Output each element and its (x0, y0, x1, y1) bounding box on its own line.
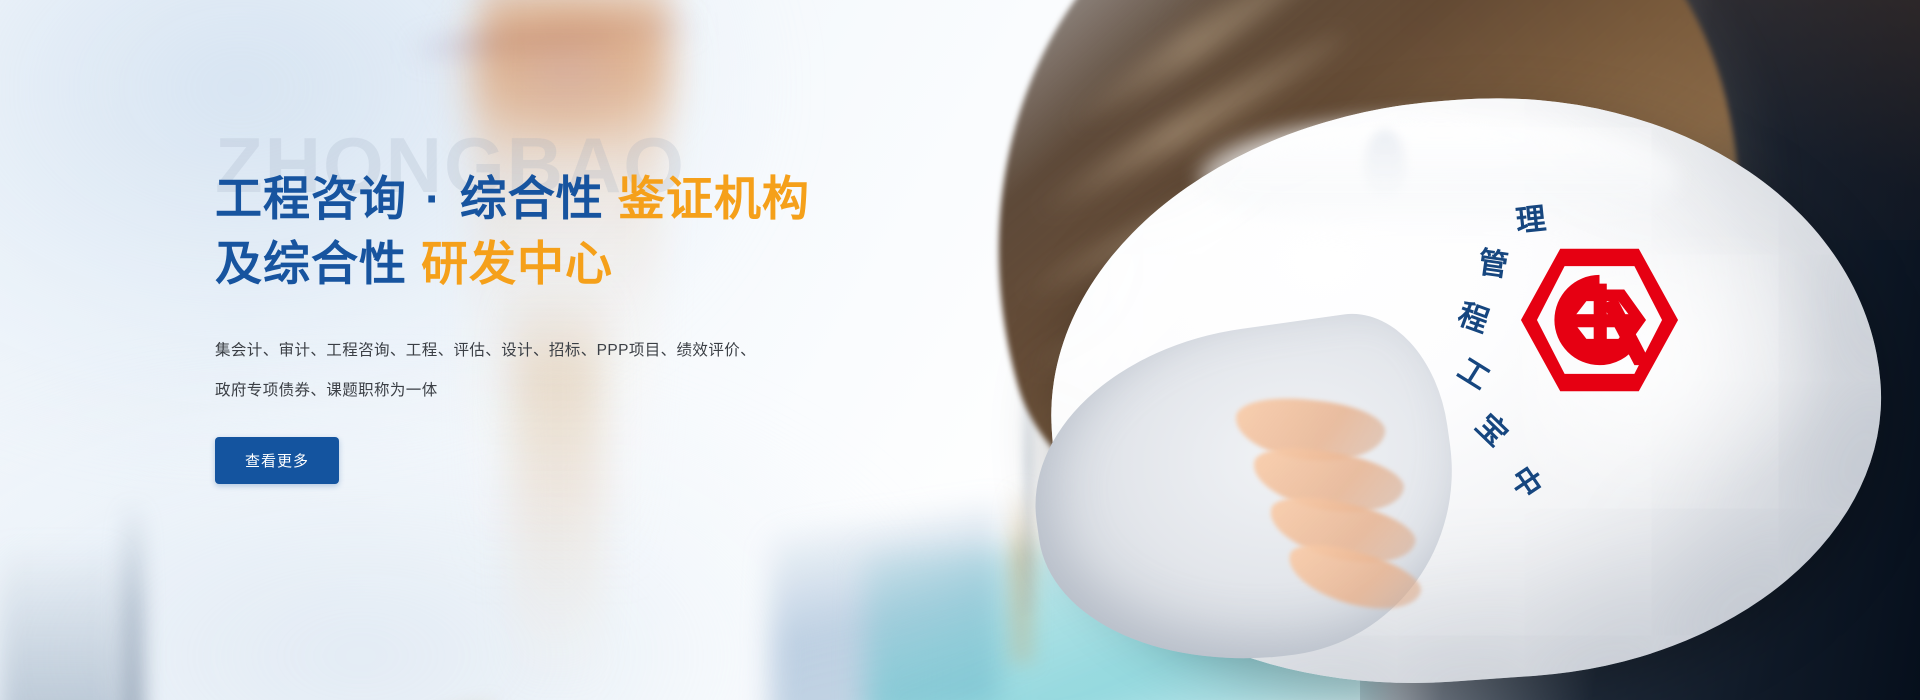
headline-line-2: 及综合性 研发中心 (215, 232, 875, 297)
hard-hat-ridge (1365, 130, 1405, 200)
view-more-button[interactable]: 查看更多 (215, 437, 339, 484)
scaffold-pole (120, 500, 146, 700)
page-description: 集会计、审计、工程咨询、工程、评估、设计、招标、PPP项目、绩效评价、 政府专项… (215, 331, 875, 412)
headline-part-2: 综合性 (460, 172, 604, 225)
headline-part-5: 研发中心 (421, 237, 613, 290)
description-line-1: 集会计、审计、工程咨询、工程、评估、设计、招标、PPP项目、绩效评价、 (215, 331, 875, 371)
hard-hat-crest (1200, 118, 1680, 238)
hero-content: ZHONGBAO 工程咨询 · 综合性 鉴证机构 及综合性 研发中心 集会计、审… (215, 120, 875, 484)
company-logo-icon (1512, 240, 1687, 400)
headline-part-1: 工程咨询 (215, 172, 407, 225)
description-line-2: 政府专项债券、课题职称为一体 (215, 371, 875, 411)
scaffold-left (0, 540, 120, 700)
headline-part-3: 鉴证机构 (618, 172, 810, 225)
page-title: 工程咨询 · 综合性 鉴证机构 及综合性 研发中心 (215, 167, 875, 297)
hero-banner: 中 宝 工 程 管 理 (0, 0, 1920, 700)
headline-separator-dot: · (421, 172, 446, 225)
headline-part-4: 及综合性 (215, 237, 407, 290)
headline-line-1: 工程咨询 · 综合性 鉴证机构 (215, 167, 875, 232)
